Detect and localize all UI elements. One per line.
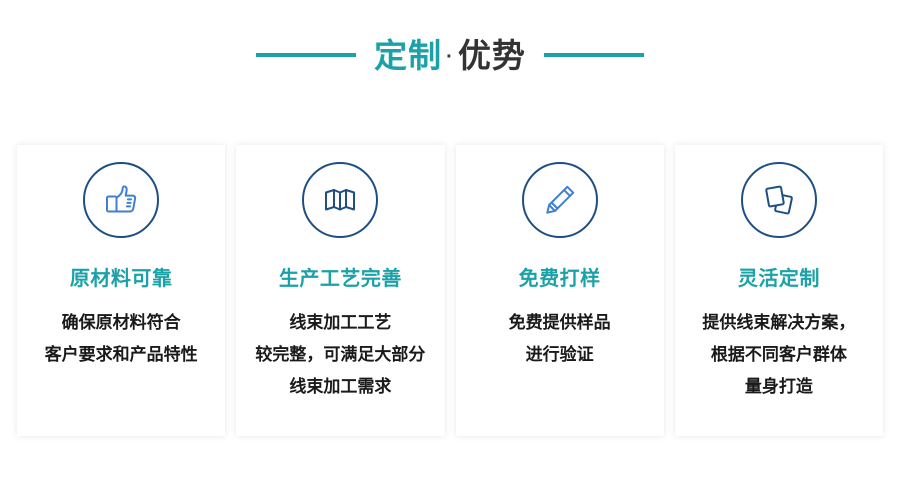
advantage-card-body: 线束加工工艺 较完整，可满足大部分 线束加工需求 <box>247 307 433 403</box>
advantage-card-title: 免费打样 <box>519 269 601 289</box>
heading-rule-right <box>544 53 644 57</box>
advantage-card-list: 原材料可靠 确保原材料符合 客户要求和产品特性 生产工艺完善 线束加工工艺 较完… <box>17 145 883 436</box>
folded-map-icon <box>302 162 378 238</box>
page-title: 定制·优势 <box>374 39 526 72</box>
advantage-card[interactable]: 生产工艺完善 线束加工工艺 较完整，可满足大部分 线束加工需求 <box>236 145 444 436</box>
advantage-card[interactable]: 原材料可靠 确保原材料符合 客户要求和产品特性 <box>17 145 225 436</box>
advantage-card-title: 灵活定制 <box>738 269 820 289</box>
advantage-card-body: 免费提供样品 进行验证 <box>467 307 653 371</box>
stacked-cards-icon <box>741 162 817 238</box>
heading-rule-left <box>256 53 356 57</box>
page-title-accent: 定制 <box>374 37 442 74</box>
page-title-separator: · <box>442 46 458 68</box>
advantage-card[interactable]: 免费打样 免费提供样品 进行验证 <box>456 145 664 436</box>
page-title-plain: 优势 <box>458 37 526 74</box>
advantage-card-title: 原材料可靠 <box>70 269 173 289</box>
advantage-card[interactable]: 灵活定制 提供线束解决方案， 根据不同客户群体 量身打造 <box>675 145 883 436</box>
advantage-card-body: 提供线束解决方案， 根据不同客户群体 量身打造 <box>686 307 872 403</box>
advantage-card-body: 确保原材料符合 客户要求和产品特性 <box>28 307 214 371</box>
advantage-card-title: 生产工艺完善 <box>279 269 402 289</box>
pencil-icon <box>522 162 598 238</box>
section-heading: 定制·优势 <box>0 26 900 84</box>
thumbs-up-icon <box>83 162 159 238</box>
